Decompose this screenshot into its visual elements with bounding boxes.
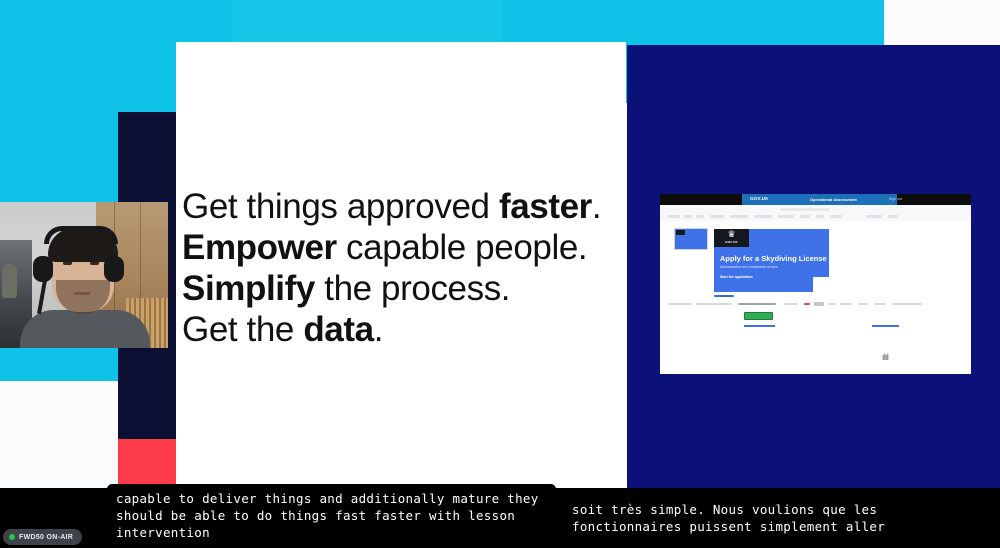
mock-topbar-title: Operational Assessment (810, 197, 857, 202)
crown-icon: ♛ GOV.UK (714, 229, 749, 247)
mock-toolbar-item (888, 215, 898, 218)
headphones-icon (44, 226, 118, 244)
mock-toolbar-item (754, 215, 772, 218)
govuk-browser-mockup: GOV.UK Operational Assessment Sign out (660, 194, 971, 374)
headline-text: . (592, 187, 601, 226)
crown-glyph: ♛ (714, 229, 749, 240)
caption-english: capable to deliver things and additional… (107, 484, 556, 548)
mock-text-line (814, 302, 824, 306)
mock-toolbar-item (816, 215, 824, 218)
crown-wordmark: GOV.UK (714, 240, 749, 244)
mock-toolbar-item (668, 215, 680, 218)
mock-card-start-link: Start the application (720, 275, 753, 279)
mock-text-line (828, 303, 836, 305)
mock-toolbar-item (710, 215, 724, 218)
caption-french: soit très simple. Nous voulions que les … (563, 495, 1000, 548)
mock-card-notch (813, 277, 829, 292)
headline-line-4: Get the data. (182, 309, 622, 350)
mock-card-subtitle: Administration and compliance service (720, 265, 778, 269)
mock-text-line (892, 303, 922, 305)
headline-text: Get the (182, 310, 303, 349)
mock-toolbar-item (696, 215, 704, 218)
mock-topbar: GOV.UK Operational Assessment Sign out (660, 194, 971, 205)
headline-line-3: Simplify the process. (182, 268, 622, 309)
mock-toolbar-item (866, 215, 882, 218)
mock-page-body: ♛ GOV.UK Apply for a Skydiving License A… (660, 221, 971, 374)
mock-text-line (840, 303, 852, 305)
live-dot-icon (9, 534, 15, 540)
mock-toolbar-item (830, 215, 842, 218)
mock-toolbar-item (778, 215, 794, 218)
mock-text-line (804, 303, 810, 305)
slide-headline: Get things approved faster. Empower capa… (182, 186, 622, 350)
mock-toolbar-item (684, 215, 692, 218)
speaker-video-feed (0, 202, 168, 348)
headline-line-2: Empower capable people. (182, 227, 622, 268)
mock-text-line (874, 303, 886, 305)
headline-line-1: Get things approved faster. (182, 186, 622, 227)
mock-url-bar (780, 208, 830, 211)
mock-toolbar (660, 205, 971, 222)
webcam-person-torso (20, 310, 150, 348)
headline-text: capable people. (337, 228, 587, 267)
headline-emphasis: Empower (182, 228, 337, 267)
govuk-logo: GOV.UK (750, 196, 769, 201)
livestream-screen: Get things approved faster. Empower capa… (0, 0, 1000, 548)
headline-emphasis: Simplify (182, 269, 315, 308)
headline-emphasis: faster (499, 187, 592, 226)
background-red-block (118, 439, 176, 488)
mock-toolbar-item (800, 215, 810, 218)
headphone-ear-cup (33, 256, 53, 282)
mock-text-line (668, 303, 692, 305)
mock-signout-link: Sign out (889, 197, 902, 201)
mock-text-line (696, 303, 732, 305)
headline-text: . (374, 310, 383, 349)
mock-card-title: Apply for a Skydiving License (720, 254, 827, 263)
mock-toolbar-item (730, 215, 748, 218)
mock-service-card: ♛ GOV.UK Apply for a Skydiving License A… (714, 229, 829, 292)
mock-text-line (714, 295, 734, 297)
headline-text: Get things approved (182, 187, 499, 226)
headphone-ear-cup (104, 256, 124, 282)
mock-footer-link (744, 325, 775, 327)
mock-footer-link (872, 325, 899, 327)
mock-primary-button (744, 312, 773, 320)
webcam-background-object (2, 264, 17, 298)
mock-thumbnail-preview (674, 228, 708, 250)
headline-emphasis: data (303, 310, 373, 349)
mock-thumbnail-header (676, 230, 685, 235)
mock-text-line (784, 303, 798, 305)
webcam-person-mouth (74, 292, 90, 295)
mock-watermark: ılıl (882, 352, 888, 362)
mock-text-line (738, 303, 776, 305)
mock-text-line (858, 303, 868, 305)
headline-text: the process. (315, 269, 510, 308)
on-air-label: FWD50 ON-AIR (19, 534, 73, 541)
on-air-badge: FWD50 ON-AIR (3, 529, 82, 545)
